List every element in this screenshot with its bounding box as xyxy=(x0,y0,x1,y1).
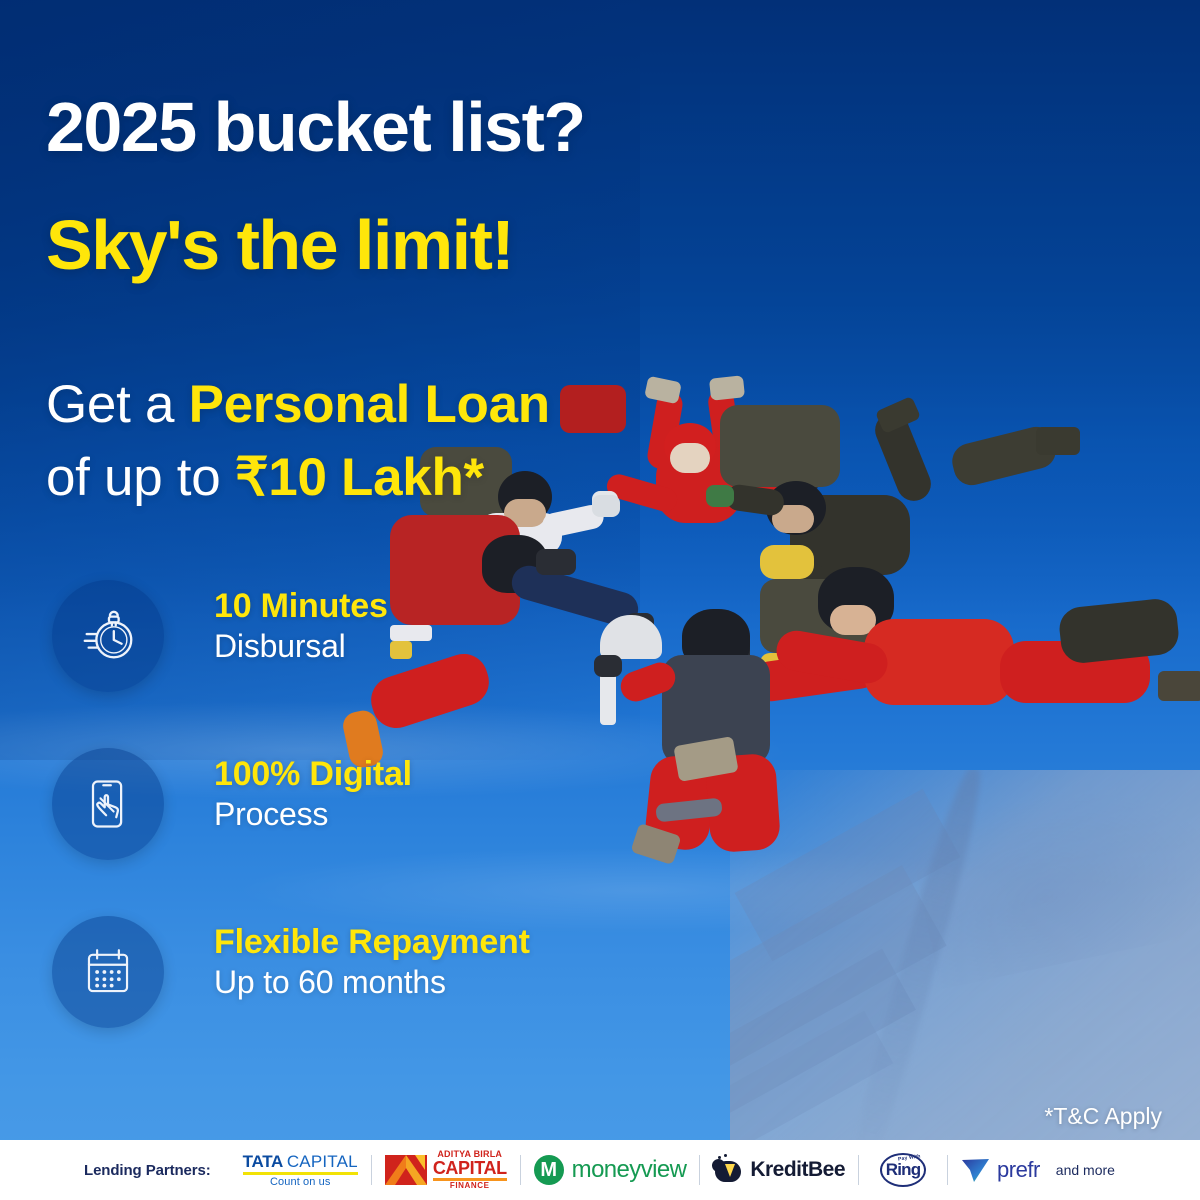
aditya-birla-wordmark: ADITYA BIRLA CAPITAL FINANCE xyxy=(433,1150,507,1190)
logo-divider xyxy=(520,1155,521,1185)
feature-item-digital: 100% Digital Process xyxy=(52,748,672,866)
partner-logo-aditya-birla-capital[interactable]: ADITYA BIRLA CAPITAL FINANCE xyxy=(385,1150,507,1190)
and-more-label: and more xyxy=(1056,1162,1115,1178)
subheadline-prefix: Get a xyxy=(46,375,189,434)
feature-subtitle: Up to 60 months xyxy=(214,963,530,1002)
tata-tagline: Count on us xyxy=(243,1177,358,1188)
subheadline-middle: of up to xyxy=(46,448,235,507)
logo-divider xyxy=(858,1155,859,1185)
subheadline: Get a Personal Loan of up to ₹10 Lakh* xyxy=(46,368,550,514)
feature-subtitle: Process xyxy=(214,795,412,834)
phone-tap-icon xyxy=(52,748,164,860)
ring-wordmark: Ring xyxy=(886,1160,921,1180)
lending-partners-bar: Lending Partners: TATA CAPITAL Count on … xyxy=(0,1140,1200,1200)
subheadline-highlight-product: Personal Loan xyxy=(189,375,550,434)
feature-item-repayment: Flexible Repayment Up to 60 months xyxy=(52,916,672,1034)
tata-underline xyxy=(243,1172,358,1175)
tata-word-capital: CAPITAL xyxy=(287,1152,358,1171)
feature-item-disbursal: 10 Minutes Disbursal xyxy=(52,580,672,698)
partner-logo-tata-capital[interactable]: TATA CAPITAL Count on us xyxy=(243,1153,358,1188)
feature-text: Flexible Repayment Up to 60 months xyxy=(214,922,530,1003)
lending-partners-label: Lending Partners: xyxy=(84,1162,211,1179)
promotional-banner: 2025 bucket list? Sky's the limit! Get a… xyxy=(0,0,1200,1200)
feature-subtitle: Disbursal xyxy=(214,627,388,666)
partner-logo-prefr[interactable]: prefr xyxy=(961,1157,1040,1183)
headline-line-2: Sky's the limit! xyxy=(46,210,513,280)
tata-word-tata: TATA xyxy=(243,1152,283,1171)
partner-logo-kreditbee[interactable]: KreditBee xyxy=(713,1156,845,1184)
feature-text: 10 Minutes Disbursal xyxy=(214,586,388,667)
aditya-birla-capital: CAPITAL xyxy=(433,1159,507,1177)
feature-title: Flexible Repayment xyxy=(214,922,530,963)
kreditbee-bee-icon xyxy=(713,1156,743,1184)
feature-title: 100% Digital xyxy=(214,754,412,795)
prefr-wordmark: prefr xyxy=(997,1157,1040,1183)
tata-wordmark: TATA CAPITAL xyxy=(243,1153,358,1170)
partner-logo-moneyview[interactable]: M moneyview xyxy=(534,1155,687,1185)
logo-divider xyxy=(371,1155,372,1185)
ring-mark: Pay With Ring xyxy=(872,1151,934,1189)
aditya-birla-sunrise-icon xyxy=(385,1155,427,1185)
subheadline-highlight-amount: ₹10 Lakh* xyxy=(235,448,484,507)
aditya-birla-finance: FINANCE xyxy=(433,1182,507,1190)
moneyview-wordmark: moneyview xyxy=(572,1156,687,1184)
stopwatch-icon xyxy=(52,580,164,692)
calendar-icon xyxy=(52,916,164,1028)
feature-title: 10 Minutes xyxy=(214,586,388,627)
logo-divider xyxy=(699,1155,700,1185)
prefr-arrow-icon xyxy=(961,1157,991,1183)
logo-divider xyxy=(947,1155,948,1185)
feature-text: 100% Digital Process xyxy=(214,754,412,835)
features-list: 10 Minutes Disbursal 100% Digital Proces… xyxy=(52,580,672,1084)
terms-disclaimer: *T&C Apply xyxy=(1044,1103,1162,1130)
kreditbee-wordmark: KreditBee xyxy=(750,1158,845,1182)
headline-line-1: 2025 bucket list? xyxy=(46,92,585,162)
partner-logo-ring[interactable]: Pay With Ring xyxy=(872,1151,934,1189)
moneyview-m-icon: M xyxy=(534,1155,564,1185)
